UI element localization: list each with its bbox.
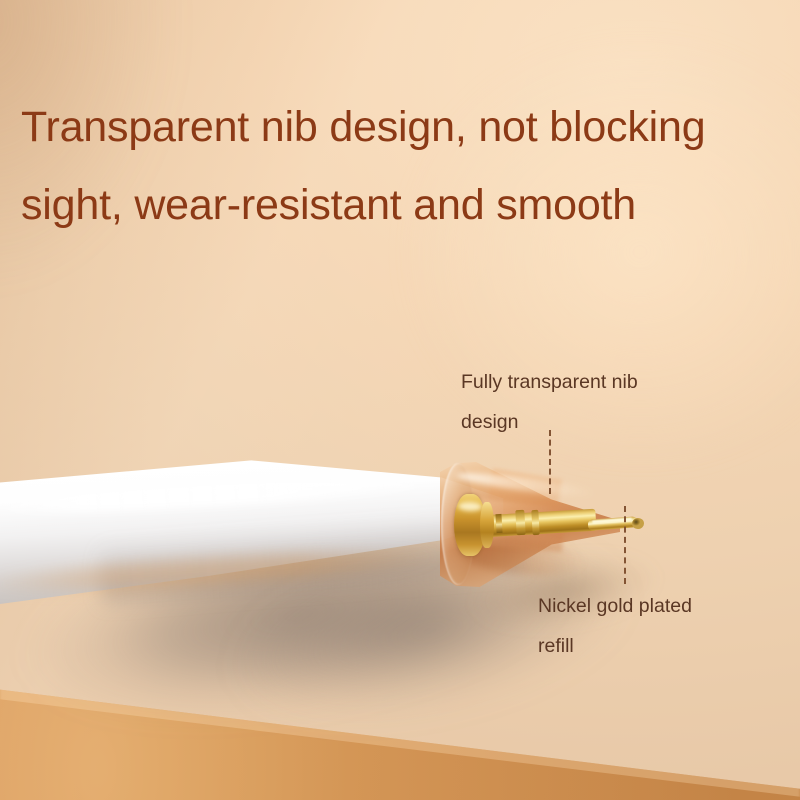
refill-knurl-ring [531, 510, 539, 535]
pen-tip-point [632, 518, 645, 530]
product-feature-image: Transparent nib design, not blocking sig… [0, 0, 800, 800]
leader-line-refill [624, 506, 626, 584]
refill-shaft-step [495, 514, 502, 533]
page-title: Transparent nib design, not blocking sig… [21, 88, 791, 244]
gold-ferrule-ring [480, 502, 494, 548]
callout-label-gold-refill: Nickel gold plated refill [538, 586, 778, 666]
refill-knurl-ring [515, 510, 525, 535]
callout-label-transparent-nib: Fully transparent nib design [461, 362, 711, 442]
